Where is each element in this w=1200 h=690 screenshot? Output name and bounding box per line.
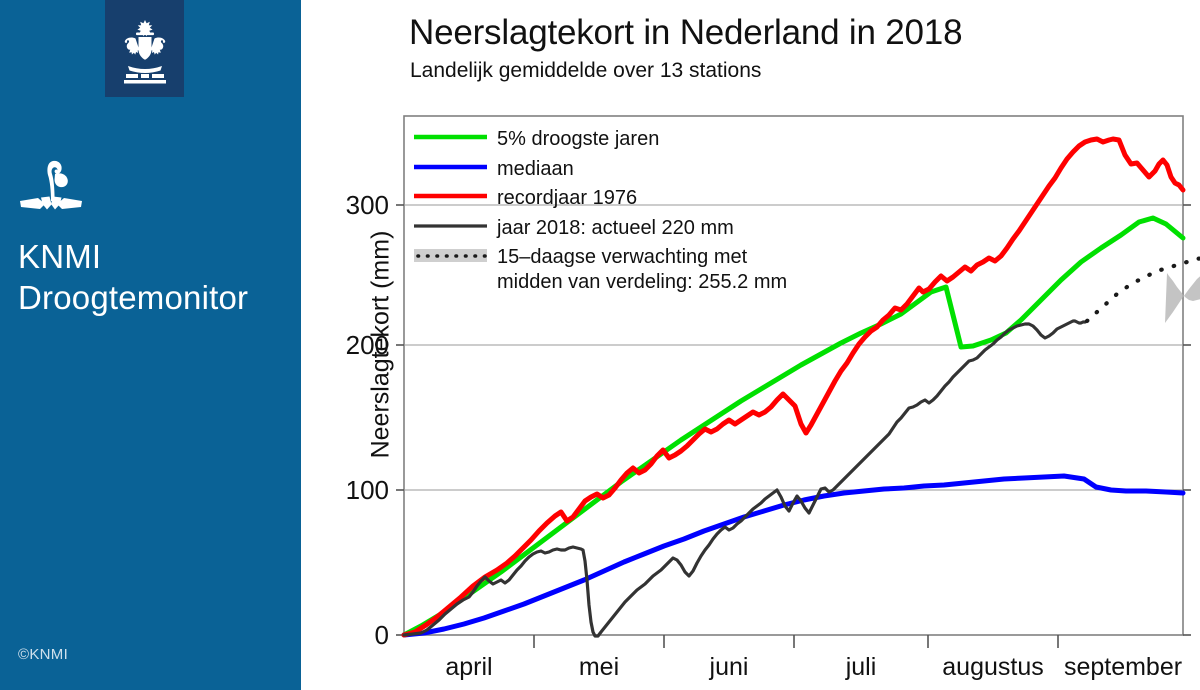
brand-title: KNMI Droogtemonitor	[18, 236, 298, 318]
x-label-april: april	[445, 653, 492, 681]
y-tick-200: 200	[346, 330, 389, 360]
x-axis-ticks	[534, 635, 1058, 648]
x-label-september: september	[1064, 653, 1182, 681]
legend-label-recordjaar: recordjaar 1976	[497, 187, 637, 209]
y-axis-tick-labels: 0 100 200 300	[346, 190, 389, 650]
legend-label-droogste: 5% droogste jaren	[497, 128, 659, 150]
sidebar: KNMI Droogtemonitor ©KNMI	[0, 0, 301, 690]
chart-panel: Neerslagtekort in Nederland in 2018 Land…	[301, 0, 1200, 690]
series-recordjaar-1976	[404, 139, 1183, 635]
legend-label-mediaan: mediaan	[497, 158, 574, 180]
wilting-plant-cracked-earth-icon	[18, 157, 84, 213]
droogtemonitor-infographic: KNMI Droogtemonitor ©KNMI Neerslagtekort…	[0, 0, 1200, 690]
chart-legend: 5% droogste jaren mediaan recordjaar 197…	[414, 128, 787, 293]
x-label-mei: mei	[579, 653, 619, 681]
crest-panel	[105, 0, 184, 97]
y-tick-0: 0	[375, 620, 389, 650]
x-axis-month-labels: april mei juni juli augustus september	[445, 653, 1182, 681]
x-label-juli: juli	[845, 653, 877, 681]
x-label-juni: juni	[709, 653, 749, 681]
y-tick-100: 100	[346, 475, 389, 505]
dutch-government-crest-icon	[114, 18, 176, 86]
precipitation-deficit-plot: 0 100 200 300 april mei juni juli august…	[301, 0, 1200, 690]
y-tick-300: 300	[346, 190, 389, 220]
legend-label-verwachting-line1: 15–daagse verwachting met	[497, 246, 748, 268]
series-jaar-2018-actueel	[404, 321, 1085, 636]
brand-line-2: Droogtemonitor	[18, 277, 298, 318]
copyright-notice: ©KNMI	[18, 646, 68, 663]
brand-line-1: KNMI	[18, 236, 298, 277]
series-group	[404, 139, 1200, 636]
legend-label-actueel: jaar 2018: actueel 220 mm	[496, 217, 734, 239]
x-label-augustus: augustus	[942, 653, 1043, 681]
legend-label-verwachting-line2: midden van verdeling: 255.2 mm	[497, 271, 787, 293]
